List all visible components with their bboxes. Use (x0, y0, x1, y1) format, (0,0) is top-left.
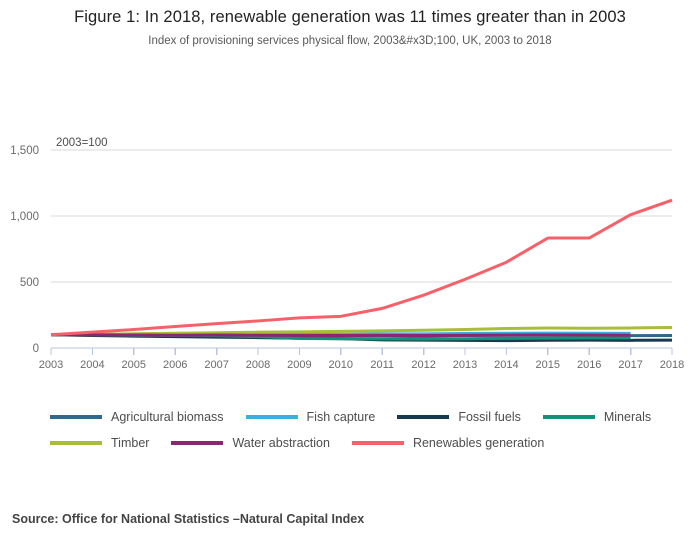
figure-subtitle: Index of provisioning services physical … (0, 35, 700, 47)
legend-color-swatch (246, 415, 298, 419)
x-axis-tick-label: 2004 (80, 359, 104, 371)
legend-item[interactable]: Renewables generation (352, 436, 544, 450)
x-axis-tick-label: 2018 (660, 359, 684, 371)
figure-container: Figure 1: In 2018, renewable generation … (0, 0, 700, 549)
legend-item-label: Minerals (604, 410, 651, 424)
x-axis-tick-label: 2017 (618, 359, 642, 371)
x-axis-tick-label: 2003 (39, 359, 63, 371)
legend-item-label: Timber (111, 436, 149, 450)
x-axis-tick-label: 2014 (494, 359, 518, 371)
x-axis-tick-label: 2012 (411, 359, 435, 371)
x-axis-tick-label: 2008 (246, 359, 270, 371)
legend-item-label: Renewables generation (413, 436, 544, 450)
series-line (51, 200, 672, 335)
y-axis-tick-label: 1,500 (10, 145, 39, 157)
x-axis-tick-label: 2006 (163, 359, 187, 371)
legend-item[interactable]: Minerals (543, 410, 651, 424)
x-axis-tick-label: 2007 (204, 359, 228, 371)
legend-item[interactable]: Fish capture (246, 410, 376, 424)
legend-color-swatch (397, 415, 449, 419)
legend-item[interactable]: Water abstraction (171, 436, 330, 450)
x-axis-tick-label: 2010 (329, 359, 353, 371)
chart-legend: Agricultural biomassFish captureFossil f… (50, 404, 690, 456)
legend-row: Agricultural biomassFish captureFossil f… (50, 404, 690, 430)
x-axis-tick-label: 2015 (536, 359, 560, 371)
legend-item-label: Fish capture (307, 410, 376, 424)
legend-color-swatch (171, 441, 223, 445)
x-axis-tick-label: 2005 (122, 359, 146, 371)
legend-color-swatch (50, 441, 102, 445)
legend-color-swatch (543, 415, 595, 419)
legend-row: TimberWater abstractionRenewables genera… (50, 430, 690, 456)
legend-item-label: Water abstraction (232, 436, 330, 450)
x-axis-tick-label: 2013 (453, 359, 477, 371)
legend-item[interactable]: Timber (50, 436, 149, 450)
source-note: Source: Office for National Statistics –… (12, 512, 364, 526)
series-line (51, 335, 631, 336)
y-axis-tick-label: 0 (33, 343, 39, 355)
x-axis-tick-label: 2016 (577, 359, 601, 371)
y-axis-tick-label: 1,000 (10, 211, 39, 223)
legend-item[interactable]: Fossil fuels (397, 410, 521, 424)
legend-item[interactable]: Agricultural biomass (50, 410, 224, 424)
legend-item-label: Agricultural biomass (111, 410, 224, 424)
plot-area: 2003=100 05001,0001,50020032004200520062… (0, 120, 700, 395)
line-chart: 05001,0001,50020032004200520062007200820… (0, 120, 700, 395)
y-axis-tick-label: 500 (20, 277, 39, 289)
page-title: Figure 1: In 2018, renewable generation … (0, 8, 700, 27)
legend-item-label: Fossil fuels (458, 410, 521, 424)
x-axis-tick-label: 2009 (287, 359, 311, 371)
legend-color-swatch (352, 441, 404, 445)
x-axis-tick-label: 2011 (370, 359, 394, 371)
legend-color-swatch (50, 415, 102, 419)
